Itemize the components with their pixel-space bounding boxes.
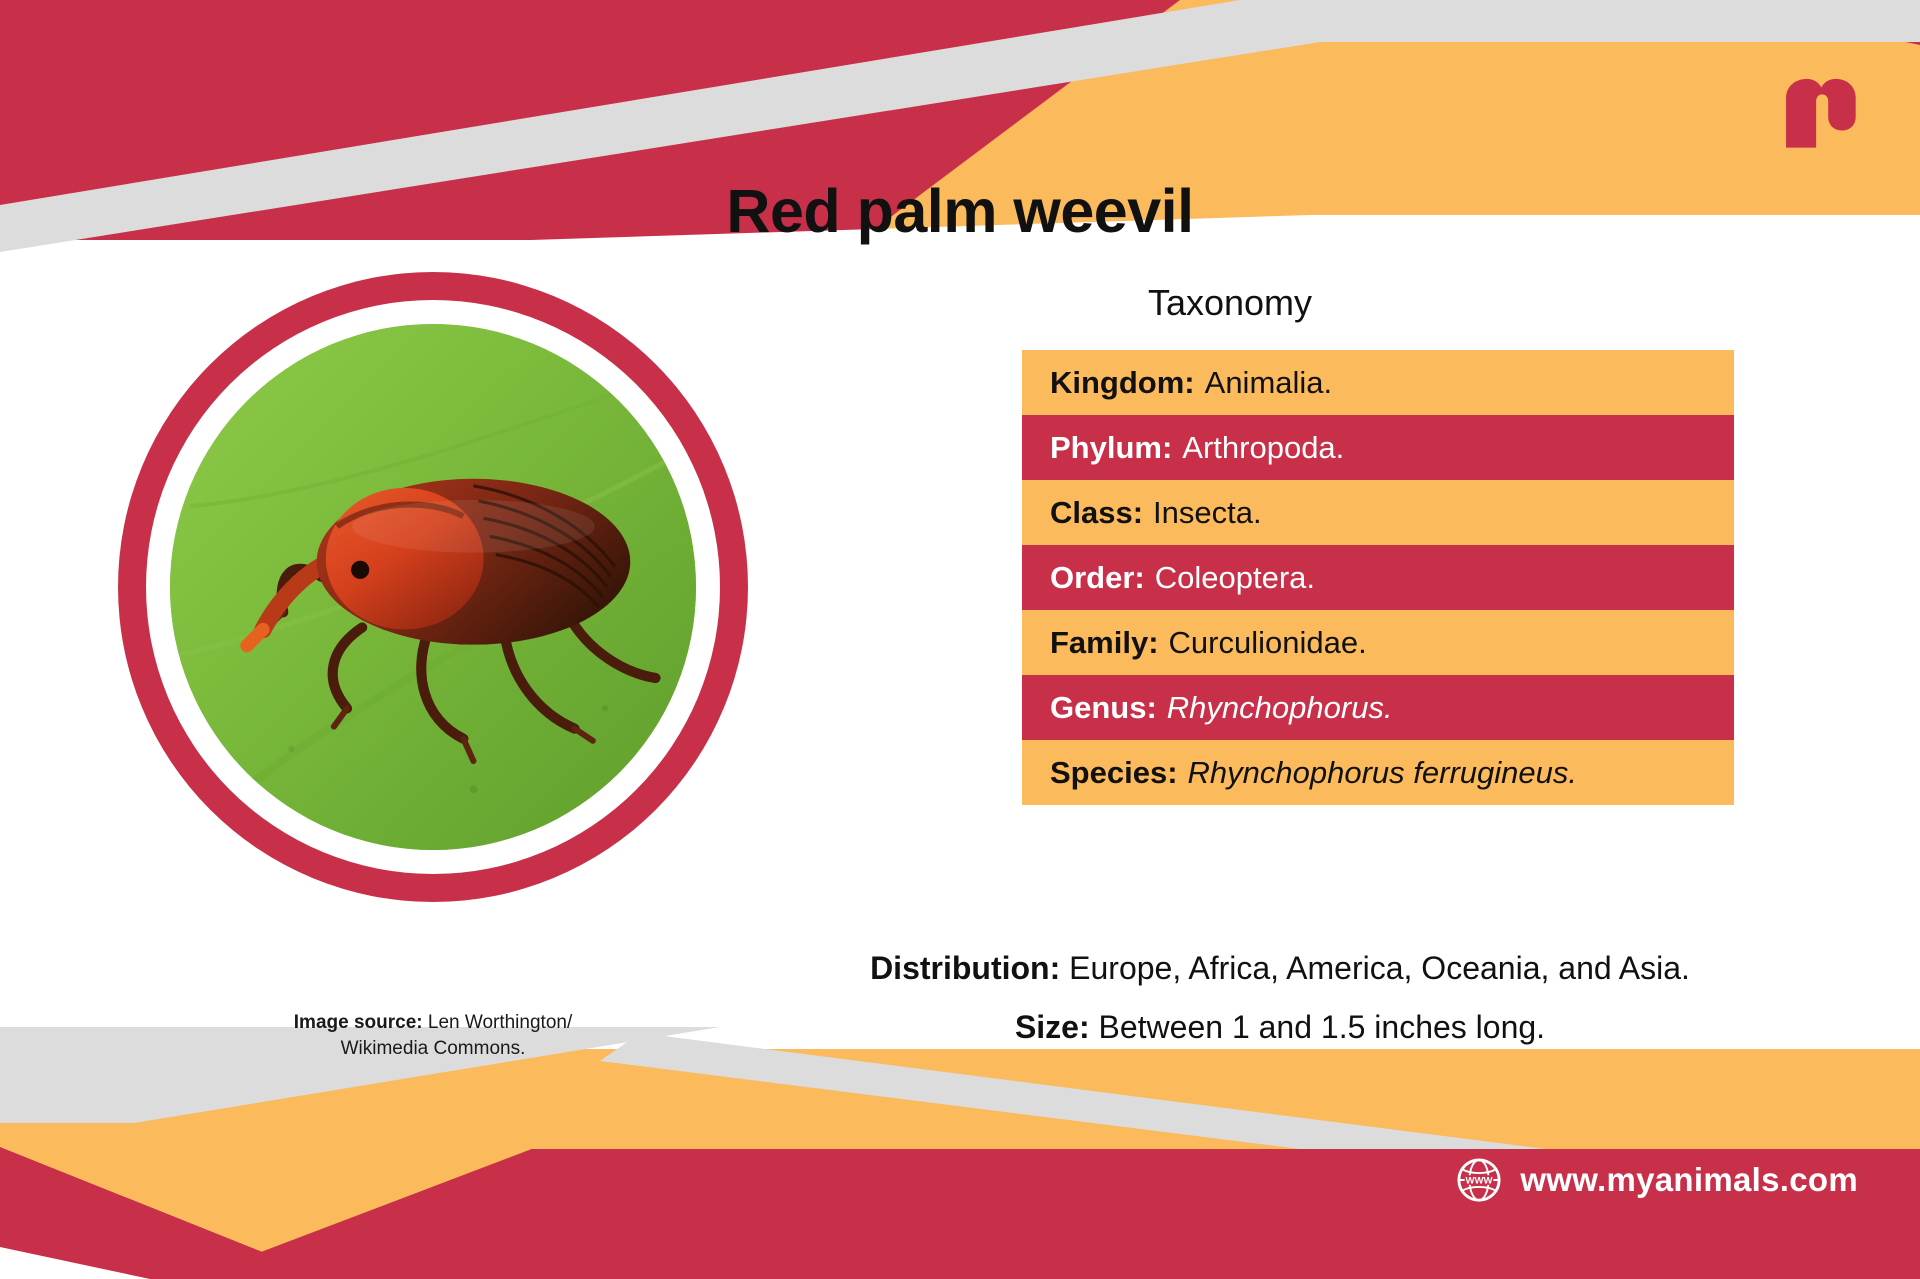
caption-line2: Wikimedia Commons. bbox=[341, 1038, 526, 1059]
table-row: Phylum: Arthropoda. bbox=[1022, 415, 1734, 480]
caption-label: Image source: bbox=[294, 1012, 423, 1033]
taxonomy-table: Kingdom: Animalia. Phylum: Arthropoda. C… bbox=[1022, 350, 1734, 805]
taxonomy-rank-label: Species: bbox=[1050, 755, 1178, 791]
taxonomy-rank-label: Genus: bbox=[1050, 690, 1157, 726]
red-palm-weevil-photo-icon bbox=[170, 324, 696, 850]
fact-value: Europe, Africa, America, Oceania, and As… bbox=[1069, 950, 1690, 986]
infographic-card: Red palm weevil bbox=[0, 0, 1920, 1279]
fact-distribution: Distribution: Europe, Africa, America, O… bbox=[700, 950, 1860, 987]
taxonomy-heading: Taxonomy bbox=[860, 282, 1600, 324]
fact-label: Size: bbox=[1015, 1009, 1090, 1045]
taxonomy-rank-label: Kingdom: bbox=[1050, 365, 1195, 401]
footer-branding: WWW www.myanimals.com bbox=[1456, 1157, 1858, 1203]
table-row: Kingdom: Animalia. bbox=[1022, 350, 1734, 415]
svg-text:WWW: WWW bbox=[1466, 1175, 1494, 1186]
animal-photo bbox=[118, 272, 748, 902]
taxonomy-rank-label: Order: bbox=[1050, 560, 1145, 596]
table-row: Species: Rhynchophorus ferrugineus. bbox=[1022, 740, 1734, 805]
table-row: Family: Curculionidae. bbox=[1022, 610, 1734, 675]
globe-www-icon: WWW bbox=[1456, 1157, 1502, 1203]
taxonomy-rank-value: Rhynchophorus. bbox=[1167, 690, 1393, 726]
table-row: Genus: Rhynchophorus. bbox=[1022, 675, 1734, 740]
taxonomy-rank-label: Phylum: bbox=[1050, 430, 1172, 466]
website-url: www.myanimals.com bbox=[1520, 1161, 1858, 1199]
table-row: Class: Insecta. bbox=[1022, 480, 1734, 545]
image-source-caption: Image source: Len Worthington/ Wikimedia… bbox=[118, 1010, 748, 1061]
taxonomy-rank-value: Coleoptera. bbox=[1155, 560, 1315, 596]
table-row: Order: Coleoptera. bbox=[1022, 545, 1734, 610]
myanimals-m-logo-icon bbox=[1774, 72, 1860, 158]
caption-value: Len Worthington/ bbox=[428, 1012, 572, 1033]
taxonomy-rank-label: Family: bbox=[1050, 625, 1159, 661]
taxonomy-rank-label: Class: bbox=[1050, 495, 1143, 531]
taxonomy-rank-value: Curculionidae. bbox=[1169, 625, 1367, 661]
taxonomy-rank-value: Animalia. bbox=[1205, 365, 1333, 401]
taxonomy-rank-value: Insecta. bbox=[1153, 495, 1262, 531]
taxonomy-rank-value: Arthropoda. bbox=[1182, 430, 1344, 466]
facts-list: Distribution: Europe, Africa, America, O… bbox=[700, 950, 1860, 1068]
taxonomy-rank-value: Rhynchophorus ferrugineus. bbox=[1188, 755, 1577, 791]
fact-label: Distribution: bbox=[870, 950, 1060, 986]
fact-value: Between 1 and 1.5 inches long. bbox=[1099, 1009, 1546, 1045]
page-title: Red palm weevil bbox=[0, 176, 1920, 246]
fact-size: Size: Between 1 and 1.5 inches long. bbox=[700, 1009, 1860, 1046]
